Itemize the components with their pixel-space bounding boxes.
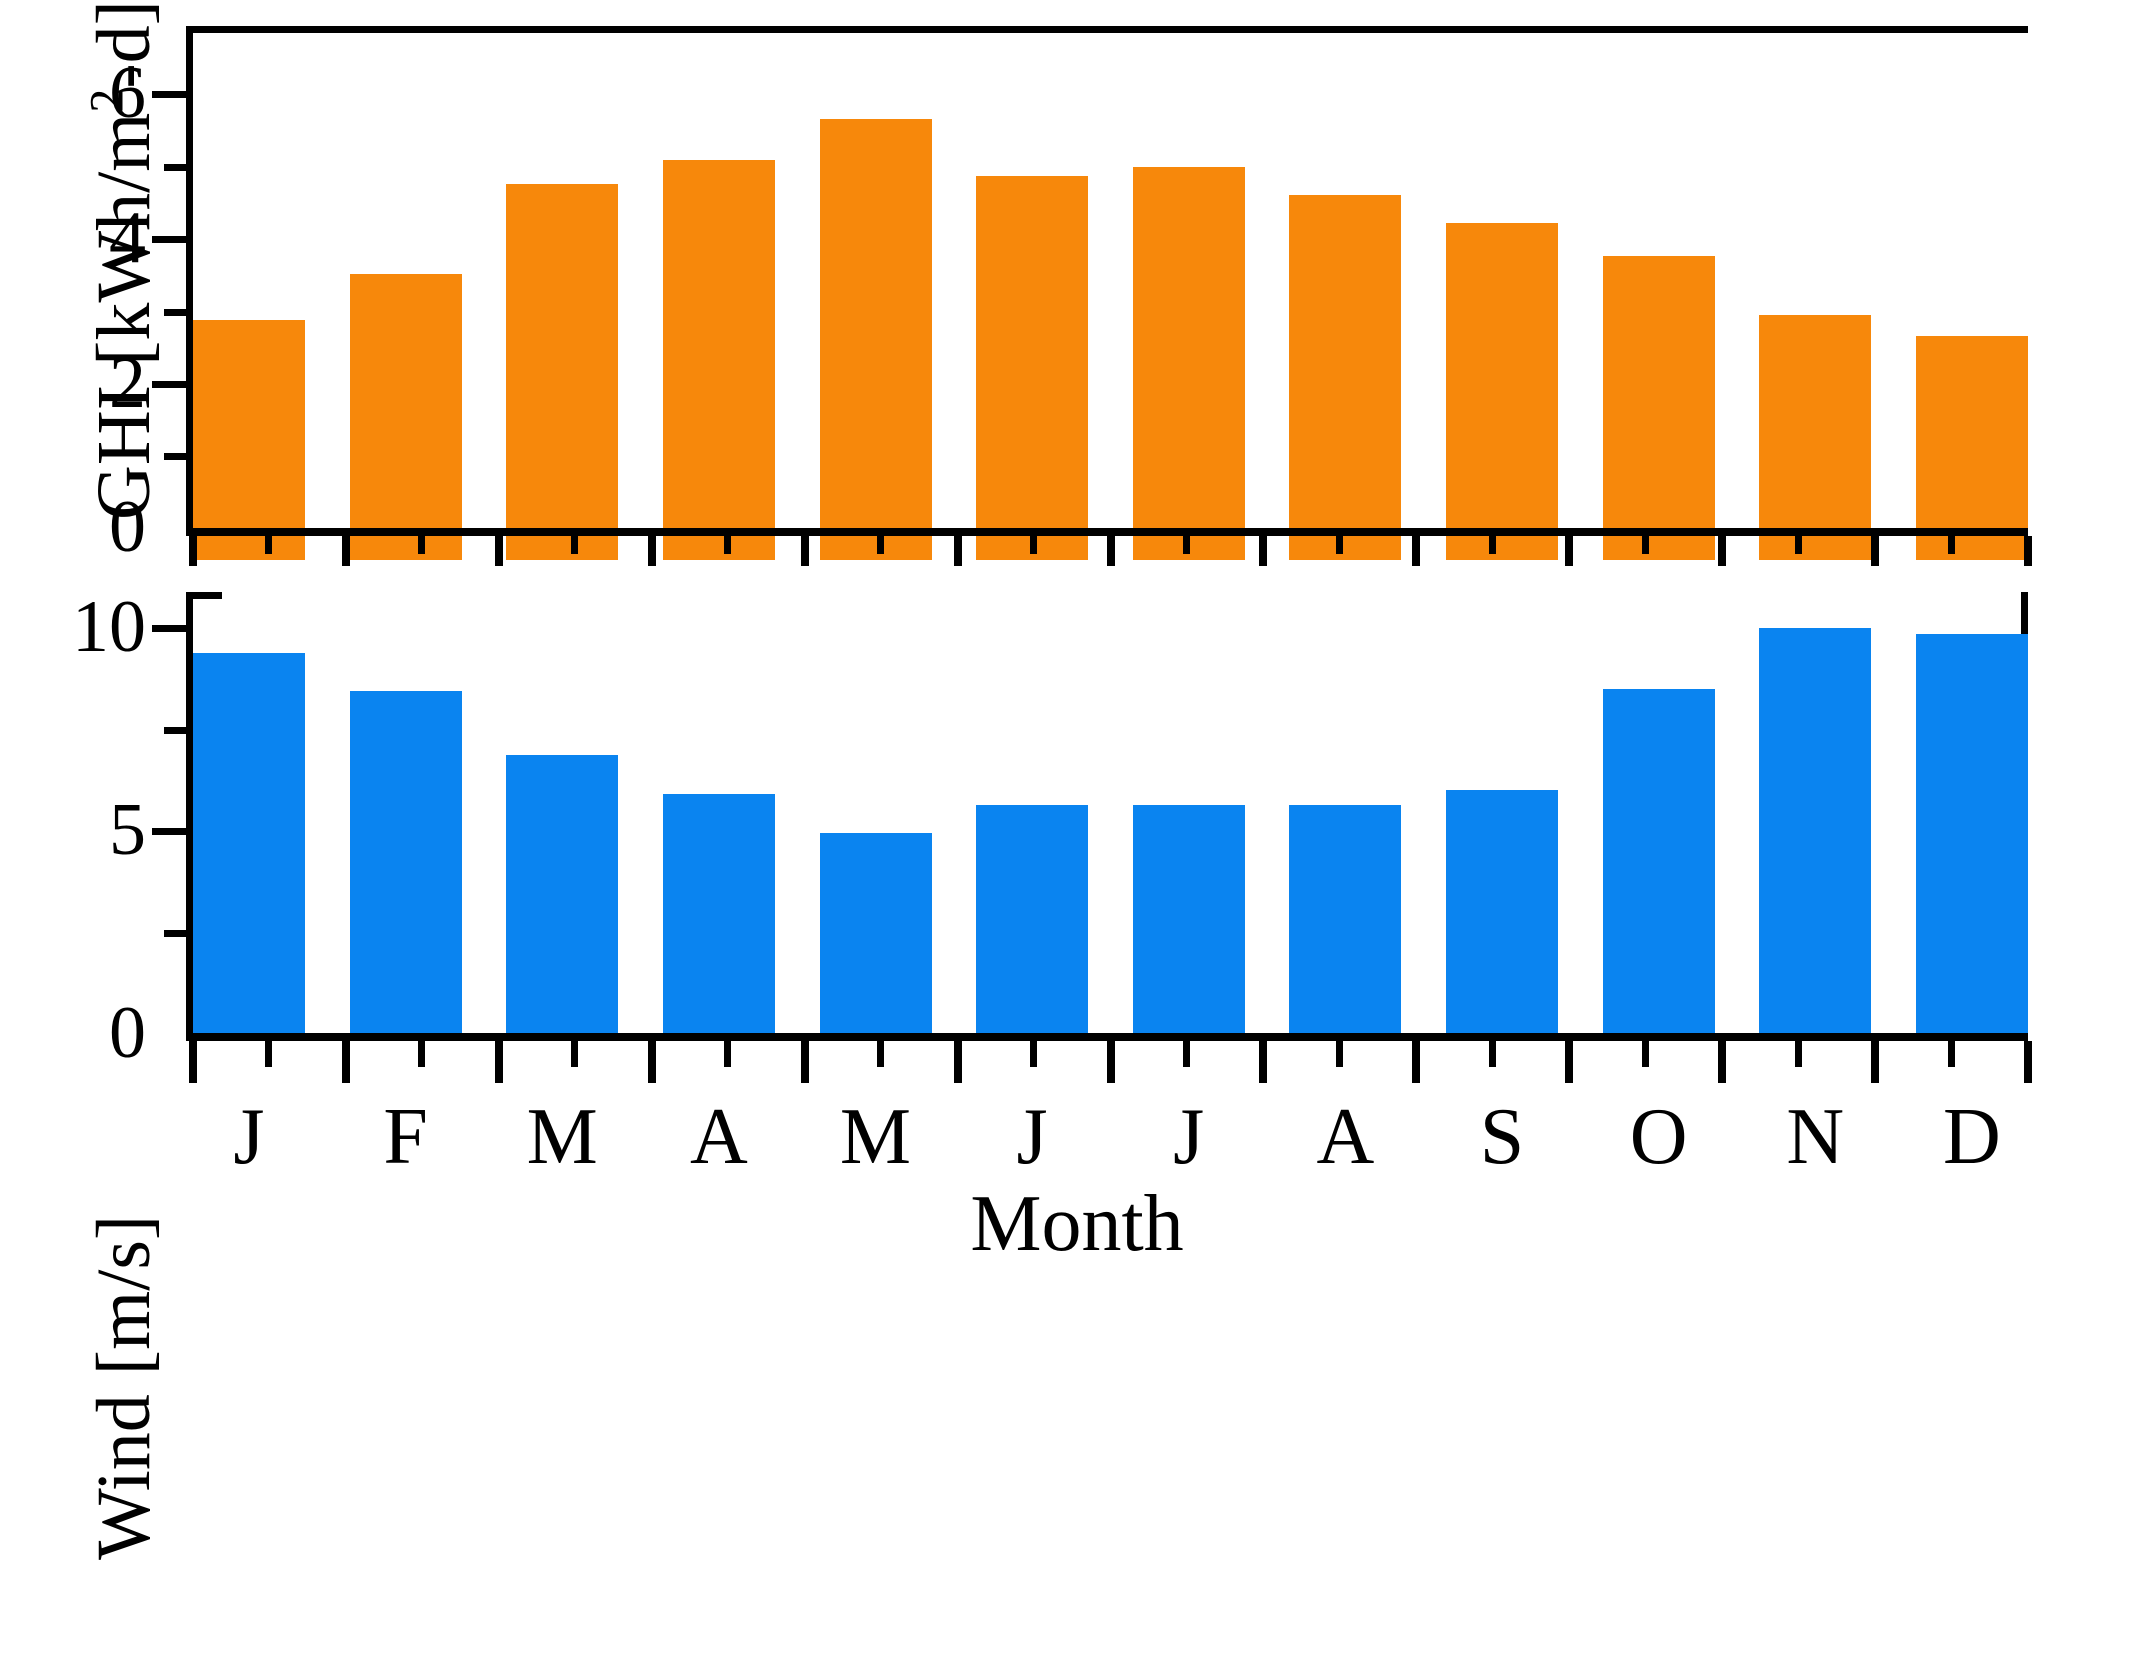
ghi-x-axis-line [186,528,2028,536]
ghi-xtick-minor-10 [1795,536,1802,554]
wind-xtick-major-4 [801,1041,809,1083]
ghi-xtick-major-0 [189,536,197,566]
x-axis-tick-labels: J F M A M J J A S O N D [193,1092,2028,1182]
wind-xtick-minor-0 [265,1041,272,1067]
wind-xtick-minor-9 [1642,1041,1649,1067]
ghi-bar-mar [506,184,618,560]
wind-xtick-minor-2 [571,1041,578,1067]
ghi-bar-may [820,119,932,560]
ghi-bar-apr [663,160,775,560]
wind-xtick-major-11 [1871,1041,1879,1083]
ghi-bar-feb [350,274,462,560]
xtick-label-dec: D [1916,1092,2028,1182]
panel-ghi: GHI [kWh/m2-d] 6 4 2 0 [0,0,2154,560]
wind-xtick-minor-6 [1183,1041,1190,1067]
ghi-xtick-major-8 [1412,536,1420,566]
wind-bar-jul [1133,805,1245,1033]
ghi-xtick-major-11 [1871,536,1879,566]
wind-xtick-minor-5 [1030,1041,1037,1067]
ghi-xtick-major-2 [495,536,503,566]
xtick-label-jan: J [193,1092,305,1182]
wind-xtick-major-3 [648,1041,656,1083]
xtick-label-jun: J [976,1092,1088,1182]
ghi-xtick-minor-7 [1336,536,1343,554]
wind-bar-mar [506,755,618,1033]
wind-bar-sep [1446,790,1558,1033]
ghi-xtick-major-12 [2024,536,2032,566]
wind-xtick-minor-11 [1948,1041,1955,1067]
wind-ylabel-0: 0 [0,996,146,1070]
xtick-label-jul: J [1133,1092,1245,1182]
xtick-label-aug: A [1289,1092,1401,1182]
ghi-xtick-minor-0 [265,536,272,554]
ghi-xtick-minor-1 [418,536,425,554]
xtick-label-sep: S [1446,1092,1558,1182]
ghi-xtick-minor-11 [1948,536,1955,554]
ghi-y-axis-line [186,26,193,533]
ghi-ytick-6 [152,91,186,98]
wind-bar-group [193,592,2028,1033]
wind-xtick-minor-7 [1336,1041,1343,1067]
ghi-ylabel-0: 0 [0,490,146,564]
ghi-xtick-minor-8 [1489,536,1496,554]
wind-ylabel-5: 5 [0,793,146,867]
wind-xtick-major-6 [1107,1041,1115,1083]
ghi-bar-dec [1916,336,2028,560]
ghi-ytick-4 [152,236,186,243]
wind-bar-apr [663,794,775,1033]
xtick-label-oct: O [1603,1092,1715,1182]
ghi-bar-group [193,58,2028,560]
xtick-label-apr: A [663,1092,775,1182]
ghi-ylabel-4: 4 [0,201,146,275]
ghi-xtick-major-3 [648,536,656,566]
ghi-bar-nov [1759,315,1871,560]
wind-xtick-minor-4 [877,1041,884,1067]
ghi-bar-aug [1289,195,1401,560]
xtick-label-mar: M [506,1092,618,1182]
wind-xtick-major-1 [342,1041,350,1083]
ghi-xtick-minor-6 [1183,536,1190,554]
wind-xtick-major-9 [1565,1041,1573,1083]
wind-xtick-minor-10 [1795,1041,1802,1067]
ghi-xtick-minor-9 [1642,536,1649,554]
wind-xtick-minor-3 [724,1041,731,1067]
wind-xtick-major-12 [2024,1041,2032,1083]
ghi-bar-jun [976,176,1088,560]
ghi-ylabel-2: 2 [0,346,146,420]
wind-xtick-major-2 [495,1041,503,1083]
ghi-xtick-minor-3 [724,536,731,554]
ghi-xtick-major-10 [1718,536,1726,566]
xtick-label-nov: N [1759,1092,1871,1182]
ghi-xtick-major-4 [801,536,809,566]
ghi-ytick-minor-3 [164,309,186,316]
wind-y-axis-line [186,592,193,1040]
wind-xtick-minor-1 [418,1041,425,1067]
wind-xtick-major-8 [1412,1041,1420,1083]
ghi-xtick-major-1 [342,536,350,566]
ghi-bar-jan [193,320,305,560]
wind-xtick-major-0 [189,1041,197,1083]
ghi-xtick-minor-4 [877,536,884,554]
ghi-xtick-minor-2 [571,536,578,554]
wind-ytick-5 [152,828,186,835]
wind-ylabel-10: 10 [0,590,146,664]
wind-bar-feb [350,691,462,1033]
xtick-label-feb: F [350,1092,462,1182]
xtick-label-may: M [820,1092,932,1182]
wind-ytick-minor-2p5 [164,930,186,937]
wind-x-axis-line [186,1033,2028,1041]
ghi-bar-sep [1446,223,1558,560]
chart-figure: GHI [kWh/m2-d] 6 4 2 0 [0,0,2154,1659]
wind-ytick-10 [152,625,186,632]
ghi-ytick-2 [152,381,186,388]
ghi-ytick-minor-1 [164,453,186,460]
wind-bar-may [820,833,932,1033]
wind-bar-jan [193,653,305,1033]
ghi-xtick-minor-5 [1030,536,1037,554]
ghi-bar-oct [1603,256,1715,560]
wind-bar-nov [1759,628,1871,1033]
ghi-top-frame-line [186,26,2028,33]
wind-bar-aug [1289,805,1401,1033]
wind-bar-dec [1916,634,2028,1033]
ghi-xtick-major-5 [954,536,962,566]
ghi-xtick-major-9 [1565,536,1573,566]
ghi-xtick-major-6 [1107,536,1115,566]
wind-ytick-minor-7p5 [164,727,186,734]
wind-xtick-major-10 [1718,1041,1726,1083]
x-axis-title: Month [0,1180,2154,1268]
ghi-bar-jul [1133,167,1245,560]
wind-xtick-major-5 [954,1041,962,1083]
ghi-xtick-major-7 [1259,536,1267,566]
ghi-ytick-minor-5 [164,164,186,171]
wind-xtick-minor-8 [1489,1041,1496,1067]
ghi-ylabel-6: 6 [0,56,146,130]
wind-bar-oct [1603,689,1715,1033]
ghi-axis-title-prefix: GHI [kWh/m [82,113,166,520]
wind-bar-jun [976,805,1088,1033]
wind-xtick-major-7 [1259,1041,1267,1083]
